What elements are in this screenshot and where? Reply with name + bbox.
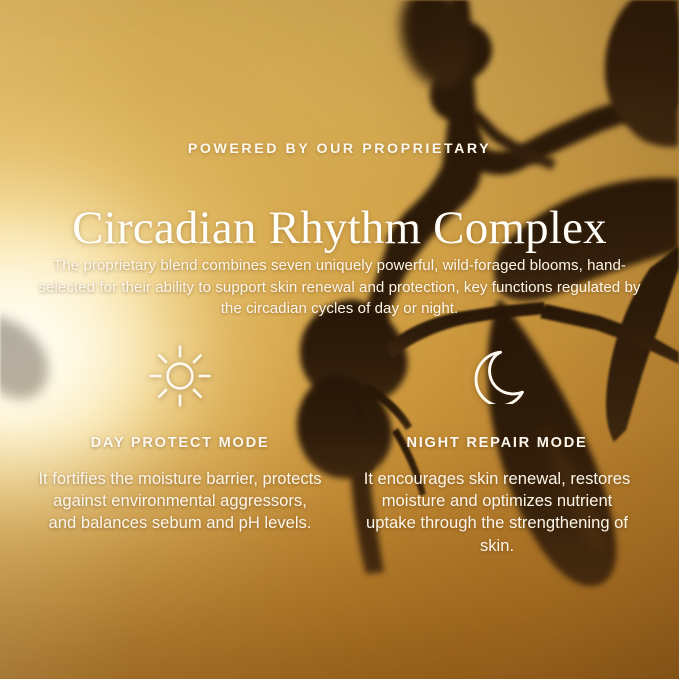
intro-paragraph: The proprietary blend combines seven uni…: [36, 255, 643, 319]
mode-title-day: DAY PROTECT MODE: [20, 435, 340, 451]
mode-body-day: It fortifies the moisture barrier, prote…: [20, 468, 340, 535]
promo-banner: POWERED BY OUR PROPRIETARY Circadian Rhy…: [0, 0, 679, 679]
eyebrow-text: POWERED BY OUR PROPRIETARY: [0, 141, 679, 157]
mode-column-day: DAY PROTECT MODE It fortifies the moistu…: [20, 336, 340, 535]
mode-body-night: It encourages skin renewal, restores moi…: [337, 468, 657, 557]
sun-icon: [148, 344, 212, 408]
page-title: Circadian Rhythm Complex: [0, 202, 679, 255]
content-layer: POWERED BY OUR PROPRIETARY Circadian Rhy…: [0, 0, 679, 679]
mode-column-night: NIGHT REPAIR MODE It encourages skin ren…: [337, 336, 657, 557]
mode-title-night: NIGHT REPAIR MODE: [337, 435, 657, 451]
sun-icon-wrapper: [20, 336, 340, 416]
moon-icon-wrapper: [337, 336, 657, 416]
moon-icon: [469, 348, 525, 404]
